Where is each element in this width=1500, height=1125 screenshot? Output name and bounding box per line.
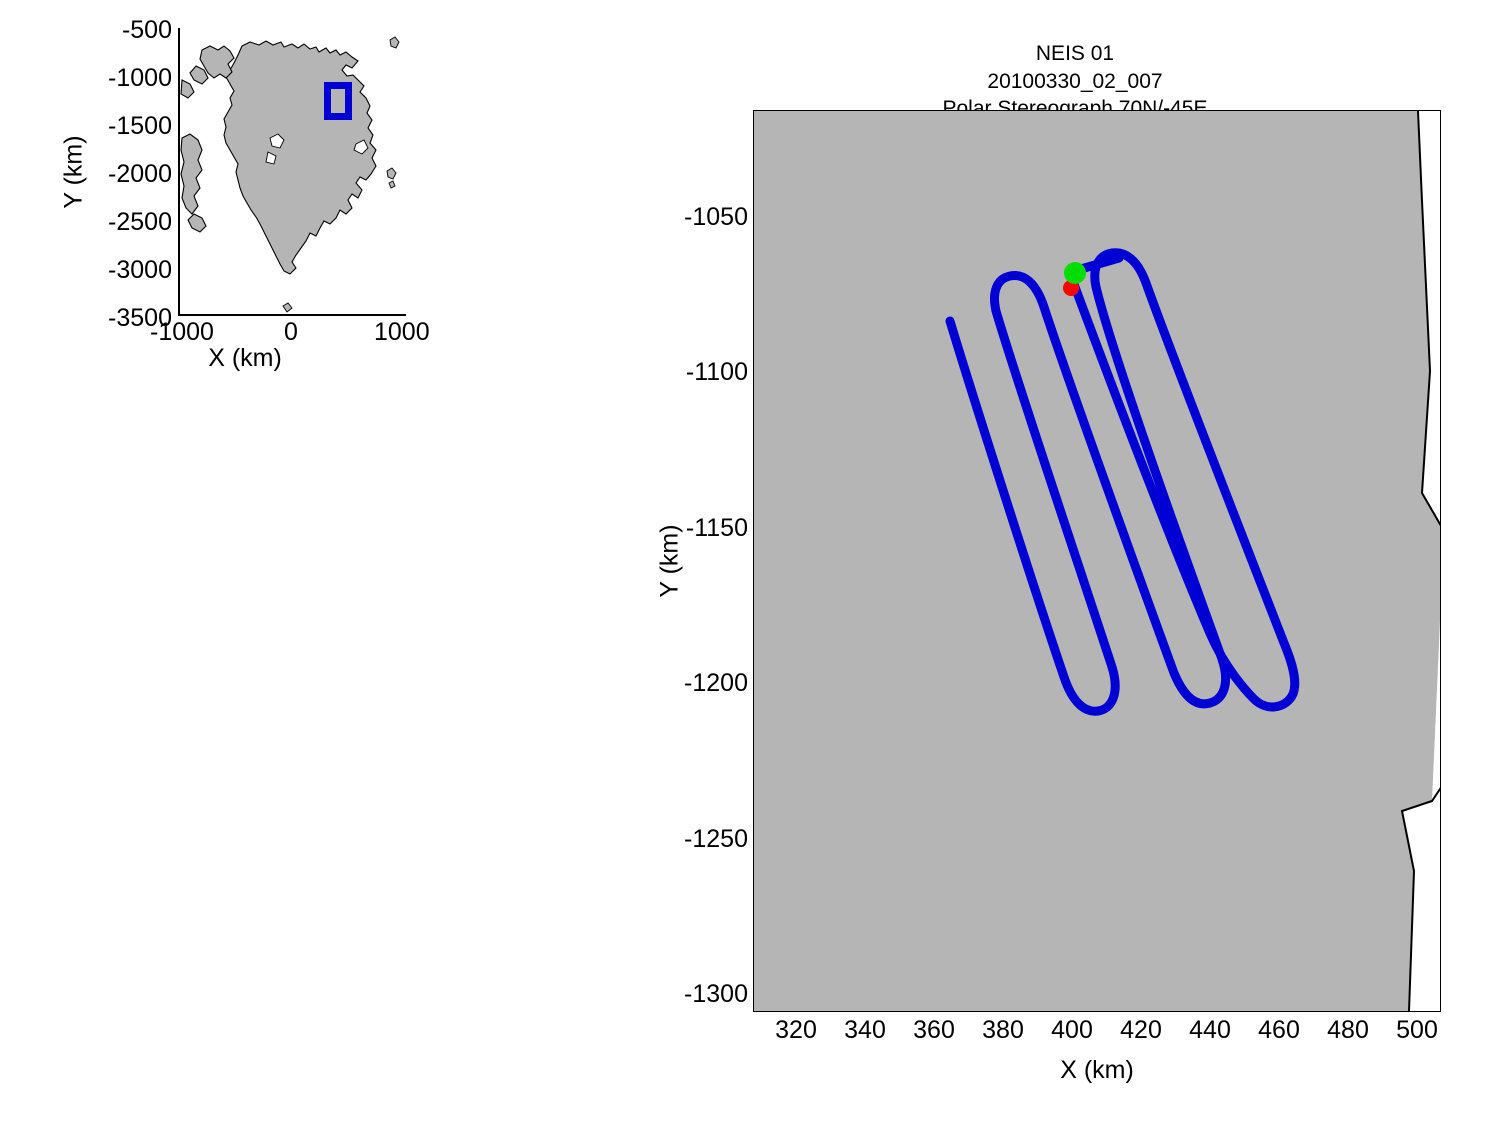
main-flight-track-plot: NEIS 01 20100330_02_007 Polar Stereograp…	[640, 10, 1500, 1100]
inset-y-tick: -1500	[108, 114, 172, 139]
main-x-tick-labels: 320 340 360 380 400 420 440 460 480 500	[753, 1016, 1441, 1050]
main-x-axis-label: X (km)	[1060, 1056, 1134, 1085]
inset-x-tick: -1000	[150, 320, 214, 345]
inset-x-tick: 0	[284, 320, 298, 345]
start-marker	[1064, 262, 1086, 284]
land-background	[754, 111, 1440, 1011]
main-x-tick: 500	[1396, 1018, 1438, 1043]
inset-x-tick: 1000	[374, 320, 430, 345]
inset-y-tick-labels: -500 -1000 -1500 -2000 -2500 -3000 -3500	[110, 28, 172, 316]
inset-x-axis-label: X (km)	[208, 344, 282, 373]
figure-root: -500 -1000 -1500 -2000 -2500 -3000 -3500	[0, 0, 1500, 1125]
main-x-tick: 400	[1051, 1018, 1093, 1043]
main-x-tick: 360	[913, 1018, 955, 1043]
plot-title-line-2: 20100330_02_007	[943, 68, 1208, 96]
main-x-tick: 440	[1189, 1018, 1231, 1043]
inset-y-tick: -500	[122, 18, 172, 43]
main-axes-area: Segment Frame Start	[753, 110, 1441, 1012]
main-x-tick: 320	[775, 1018, 817, 1043]
greenland-landmass	[181, 37, 399, 312]
main-y-tick: -1050	[684, 205, 748, 230]
main-x-tick: 460	[1258, 1018, 1300, 1043]
main-x-tick: 420	[1120, 1018, 1162, 1043]
main-y-tick: -1300	[684, 982, 748, 1007]
main-y-tick: -1200	[684, 671, 748, 696]
inset-overview-map: -500 -1000 -1500 -2000 -2500 -3000 -3500	[0, 0, 460, 390]
main-x-tick: 380	[982, 1018, 1024, 1043]
inset-y-tick: -1000	[108, 66, 172, 91]
main-y-tick: -1100	[686, 360, 748, 385]
main-y-axis-label: Y (km)	[656, 524, 685, 597]
main-x-tick: 340	[844, 1018, 886, 1043]
inset-y-tick: -2000	[108, 162, 172, 187]
main-x-tick: 480	[1327, 1018, 1369, 1043]
plot-title-line-1: NEIS 01	[943, 40, 1208, 68]
inset-y-axis-label: Y (km)	[60, 135, 89, 208]
main-y-tick: -1150	[686, 516, 748, 541]
main-y-tick: -1250	[684, 827, 748, 852]
inset-y-tick: -2500	[108, 210, 172, 235]
region-of-interest-box	[324, 82, 352, 120]
inset-y-tick: -3000	[108, 258, 172, 283]
inset-axes-area	[178, 28, 406, 316]
